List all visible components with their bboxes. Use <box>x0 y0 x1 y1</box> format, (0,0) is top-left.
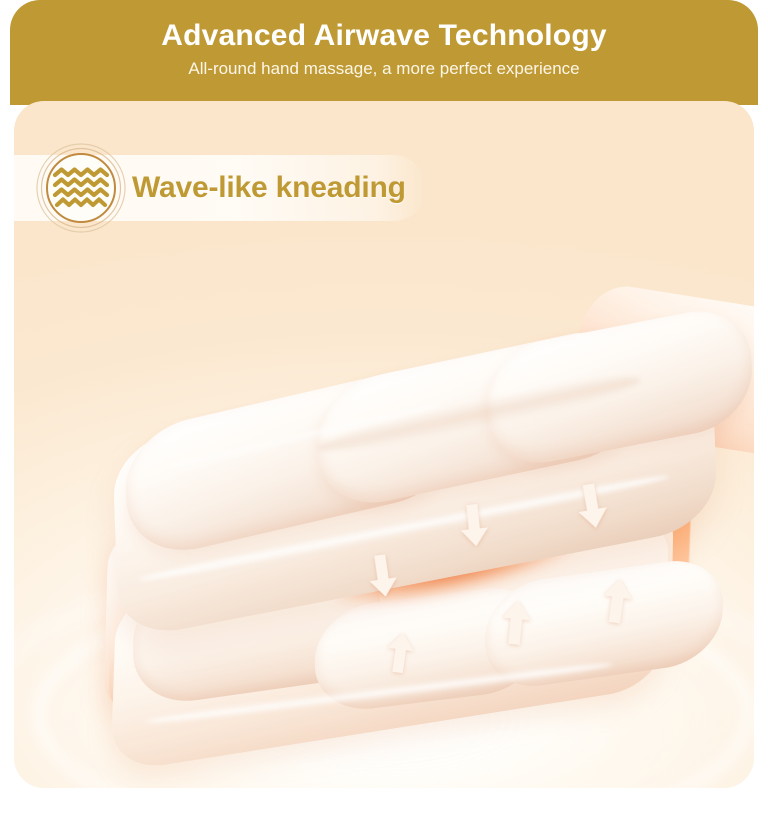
header-banner: Advanced Airwave Technology All-round ha… <box>10 0 758 105</box>
feature-badge: Wave-like kneading <box>14 155 426 221</box>
page-title: Advanced Airwave Technology <box>10 19 758 52</box>
page-subtitle: All-round hand massage, a more perfect e… <box>10 59 758 79</box>
promo-page: Advanced Airwave Technology All-round ha… <box>0 0 768 829</box>
badge-label: Wave-like kneading <box>132 166 406 210</box>
wave-circle-icon <box>35 142 127 234</box>
